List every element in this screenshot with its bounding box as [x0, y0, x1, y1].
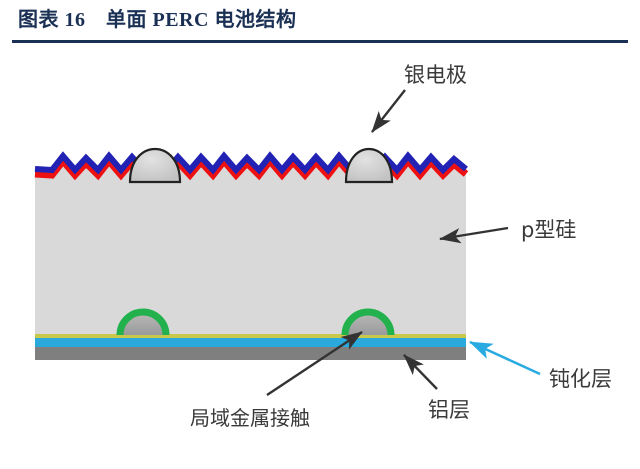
- cell-body-group: [35, 149, 466, 360]
- label-p-type-silicon: p型硅: [521, 218, 576, 242]
- label-silver-electrode: 银电极: [404, 63, 467, 87]
- aluminum-back-layer: [35, 347, 466, 360]
- leader-silver-electrode: [372, 90, 405, 132]
- rear-thin-olive-line: [35, 334, 466, 338]
- page-title: 图表 16 单面 PERC 电池结构: [18, 6, 640, 34]
- leader-aluminum-layer: [404, 355, 437, 389]
- figure-title-bar: 图表 16 单面 PERC 电池结构: [0, 0, 640, 42]
- local-metal-contact-left: [120, 312, 166, 335]
- label-aluminum-layer: 铝层: [428, 398, 470, 422]
- rear-passivation-layer: [35, 338, 466, 347]
- leader-passivation-layer: [470, 342, 540, 374]
- perc-cell-diagram: 银电极 p型硅 钝化层 铝层 局域金属接触: [0, 42, 640, 469]
- p-type-silicon-bulk: [35, 161, 466, 360]
- label-local-metal-contact: 局域金属接触: [190, 406, 310, 430]
- local-metal-contact-right: [345, 312, 391, 335]
- figure-root: 图表 16 单面 PERC 电池结构: [0, 0, 640, 469]
- label-passivation-layer: 钝化层: [549, 367, 612, 391]
- silver-electrode-left: [130, 149, 180, 182]
